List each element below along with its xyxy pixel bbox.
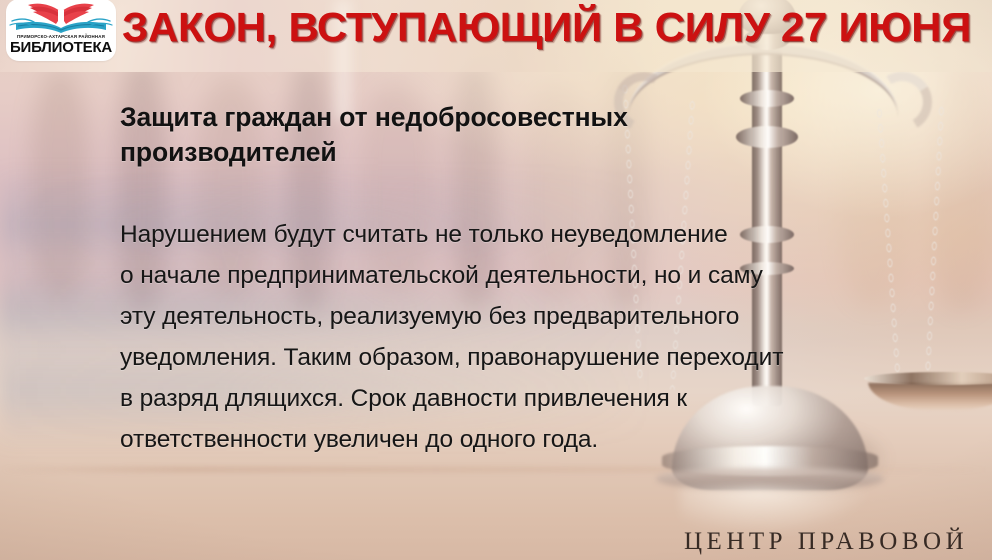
body-line: в разряд длящихся. Срок давности привлеч… bbox=[120, 378, 960, 419]
subtitle-line: Защита граждан от недобросовестных bbox=[120, 100, 820, 135]
logo-name: БИБЛИОТЕКА bbox=[8, 39, 114, 56]
body-line: эту деятельность, реализуемую без предва… bbox=[120, 296, 960, 337]
body-line: ответственности увеличен до одного года. bbox=[120, 419, 960, 460]
presentation-slide: ПРИМОРСКО-АХТАРСКАЯ РАЙОННАЯ БИБЛИОТЕКА … bbox=[0, 0, 992, 560]
body-line: уведомления. Таким образом, правонарушен… bbox=[120, 337, 960, 378]
slide-body-text: Нарушением будут считать не только неуве… bbox=[120, 214, 960, 460]
body-line: Нарушением будут считать не только неуве… bbox=[120, 214, 960, 255]
footer-center-label: ЦЕНТР ПРАВОВОЙ bbox=[684, 528, 968, 556]
body-line: о начале предпринимательской деятельност… bbox=[120, 255, 960, 296]
slide-subtitle: Защита граждан от недобросовестных произ… bbox=[120, 100, 820, 170]
slide-headline: ЗАКОН, ВСТУПАЮЩИЙ В СИЛУ 27 ИЮНЯ bbox=[122, 6, 992, 49]
open-book-icon bbox=[8, 2, 114, 36]
library-logo[interactable]: ПРИМОРСКО-АХТАРСКАЯ РАЙОННАЯ БИБЛИОТЕКА bbox=[8, 1, 114, 59]
subtitle-line: производителей bbox=[120, 135, 820, 170]
